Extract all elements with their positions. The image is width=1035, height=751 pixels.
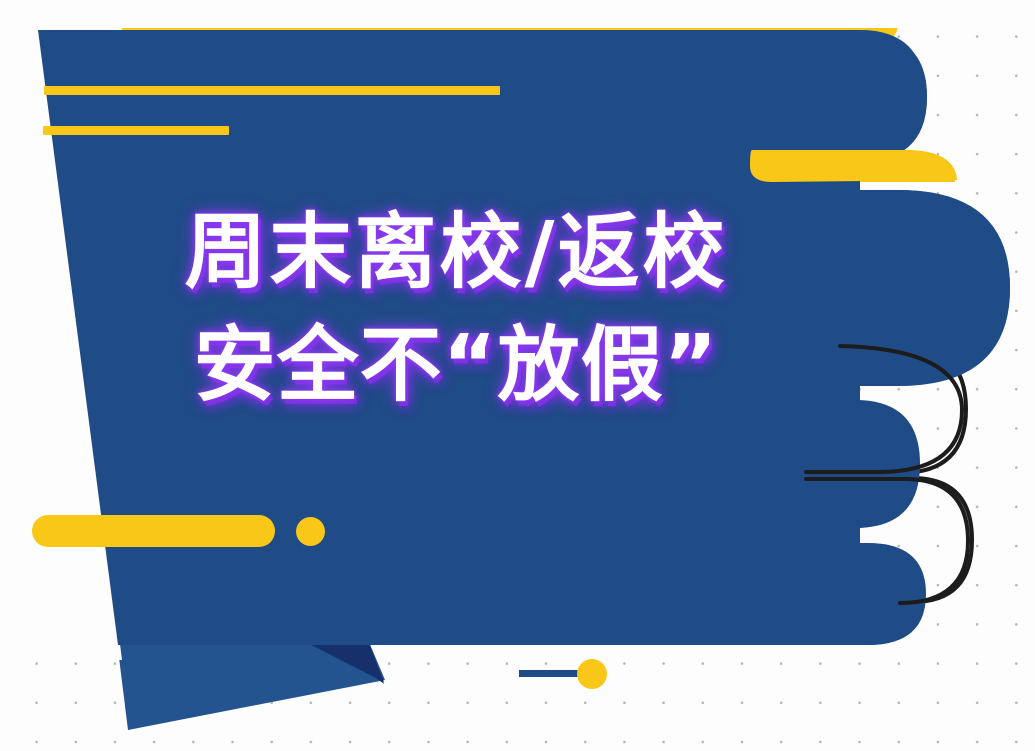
poster-canvas: 周末离校/返校 安全不“放假” — [0, 0, 1035, 751]
marker-dot — [577, 659, 607, 689]
accent-rule-short — [43, 126, 229, 135]
accent-rule-long — [44, 86, 500, 95]
marker-line — [519, 670, 585, 677]
yellow-pill — [32, 515, 275, 547]
black-outline-wave-front — [0, 0, 1035, 751]
yellow-pill-dot — [296, 517, 325, 546]
